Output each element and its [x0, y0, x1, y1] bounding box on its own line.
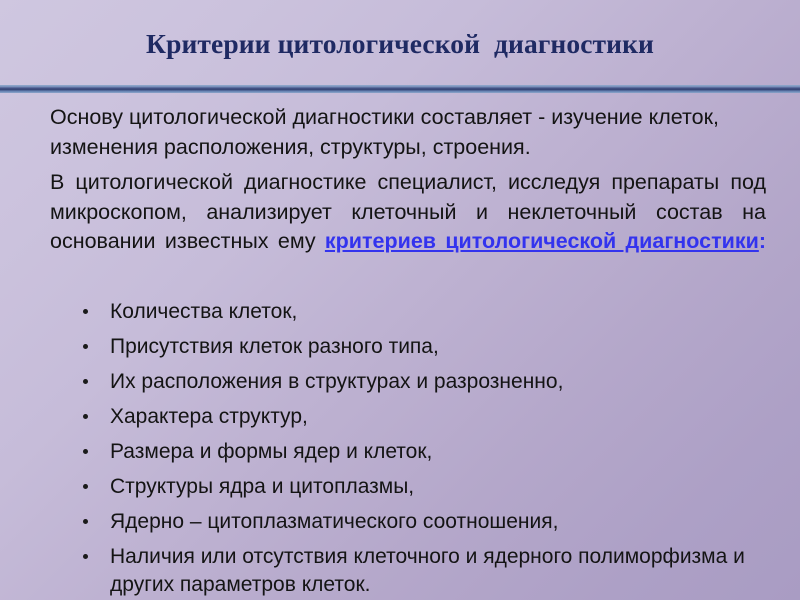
criteria-bullet-list: Количества клеток, Присутствия клеток ра… [78, 298, 778, 600]
list-item: Структуры ядра и цитоплазмы, [78, 473, 778, 501]
presentation-slide: Критерии цитологической диагностики Осно… [0, 0, 800, 600]
bullet-dot-icon [83, 449, 88, 454]
list-item: Присутствия клеток разного типа, [78, 333, 778, 361]
list-item: Характера структур, [78, 403, 778, 431]
slide-body: Основу цитологической диагностики состав… [50, 103, 766, 286]
list-item: Наличия или отсутствия клеточного и ядер… [78, 543, 778, 599]
list-item: Размера и формы ядер и клеток, [78, 438, 778, 466]
criteria-hyperlink[interactable]: критериев цитологической диагностики [325, 229, 759, 253]
list-item-label: Ядерно – цитоплазматического соотношения… [110, 508, 778, 536]
list-item-label: Характера структур, [110, 403, 778, 431]
title-divider-rule [0, 85, 800, 93]
bullet-dot-icon [83, 379, 88, 384]
paragraph-specialist-colon: : [759, 229, 766, 253]
list-item: Их расположения в структурах и разрознен… [78, 368, 778, 396]
bullet-dot-icon [83, 484, 88, 489]
list-item-label: Структуры ядра и цитоплазмы, [110, 473, 778, 501]
list-item: Количества клеток, [78, 298, 778, 326]
list-item-label: Наличия или отсутствия клеточного и ядер… [110, 543, 778, 599]
bullet-dot-icon [83, 309, 88, 314]
page-title: Критерии цитологической диагностики [0, 27, 800, 60]
paragraph-specialist: В цитологической диагностике специалист,… [50, 168, 766, 286]
title-area: Критерии цитологической диагностики [0, 0, 800, 86]
list-item-label: Присутствия клеток разного типа, [110, 333, 778, 361]
list-item-label: Их расположения в структурах и разрознен… [110, 368, 778, 396]
list-item-label: Размера и формы ядер и клеток, [110, 438, 778, 466]
paragraph-intro: Основу цитологической диагностики состав… [50, 103, 766, 162]
bullet-dot-icon [83, 414, 88, 419]
bullet-dot-icon [83, 344, 88, 349]
bullet-dot-icon [83, 554, 88, 559]
list-item: Ядерно – цитоплазматического соотношения… [78, 508, 778, 536]
bullet-dot-icon [83, 519, 88, 524]
list-item-label: Количества клеток, [110, 298, 778, 326]
